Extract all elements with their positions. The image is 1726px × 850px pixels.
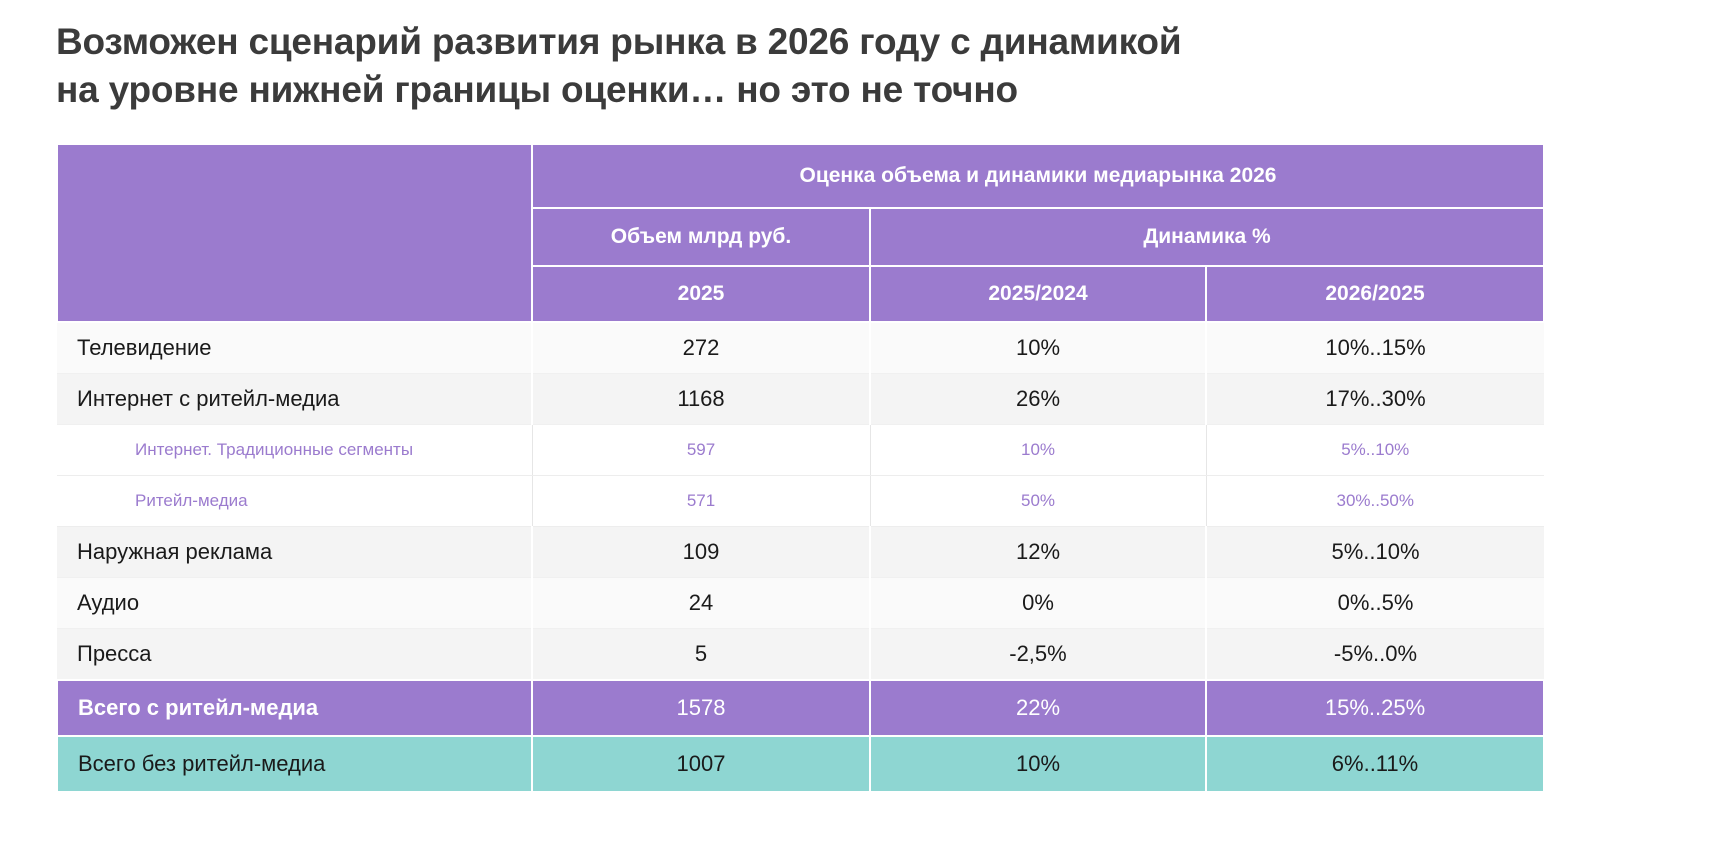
row-volume-2025: 24 bbox=[532, 578, 870, 629]
table-subrow: Интернет. Традиционные сегменты 597 10% … bbox=[57, 425, 1544, 476]
row-label: Интернет с ритейл-медиа bbox=[57, 374, 532, 425]
row-label: Пресса bbox=[57, 629, 532, 681]
row-volume-2025: 5 bbox=[532, 629, 870, 681]
total-dynamics-2025-2024: 10% bbox=[870, 736, 1206, 792]
row-volume-2025: 272 bbox=[532, 322, 870, 374]
page-title-line-1: Возможен сценарий развития рынка в 2026 … bbox=[56, 18, 1556, 66]
slide-root: Возможен сценарий развития рынка в 2026 … bbox=[0, 0, 1726, 850]
header-dynamics: Динамика % bbox=[870, 208, 1544, 266]
total-dynamics-2026-2025: 6%..11% bbox=[1206, 736, 1544, 792]
table-subrow: Ритейл-медиа 571 50% 30%..50% bbox=[57, 476, 1544, 527]
header-group-title: Оценка объема и динамики медиарынка 2026 bbox=[532, 144, 1544, 208]
row-dynamics-2026-2025: -5%..0% bbox=[1206, 629, 1544, 681]
total-label: Всего с ритейл-медиа bbox=[57, 680, 532, 736]
table-header: Оценка объема и динамики медиарынка 2026… bbox=[57, 144, 1544, 322]
media-market-table: Оценка объема и динамики медиарынка 2026… bbox=[56, 143, 1545, 793]
row-dynamics-2025-2024: 12% bbox=[870, 527, 1206, 578]
header-corner-cell bbox=[57, 144, 532, 322]
header-year-2025-2024: 2025/2024 bbox=[870, 266, 1206, 322]
row-label: Наружная реклама bbox=[57, 527, 532, 578]
subrow-dynamics-2026-2025: 5%..10% bbox=[1206, 425, 1544, 476]
total-volume-2025: 1578 bbox=[532, 680, 870, 736]
page-title-line-2: на уровне нижней границы оценки… но это … bbox=[56, 66, 1556, 114]
row-label: Телевидение bbox=[57, 322, 532, 374]
row-dynamics-2026-2025: 5%..10% bbox=[1206, 527, 1544, 578]
total-dynamics-2026-2025: 15%..25% bbox=[1206, 680, 1544, 736]
page-title: Возможен сценарий развития рынка в 2026 … bbox=[56, 18, 1556, 114]
total-label: Всего без ритейл-медиа bbox=[57, 736, 532, 792]
subrow-dynamics-2025-2024: 10% bbox=[870, 425, 1206, 476]
table-row: Телевидение 272 10% 10%..15% bbox=[57, 322, 1544, 374]
row-volume-2025: 1168 bbox=[532, 374, 870, 425]
total-dynamics-2025-2024: 22% bbox=[870, 680, 1206, 736]
header-year-2026-2025: 2026/2025 bbox=[1206, 266, 1544, 322]
subrow-dynamics-2025-2024: 50% bbox=[870, 476, 1206, 527]
row-dynamics-2026-2025: 10%..15% bbox=[1206, 322, 1544, 374]
subrow-label: Интернет. Традиционные сегменты bbox=[57, 425, 532, 476]
table-row: Наружная реклама 109 12% 5%..10% bbox=[57, 527, 1544, 578]
subrow-volume-2025: 597 bbox=[532, 425, 870, 476]
subrow-dynamics-2026-2025: 30%..50% bbox=[1206, 476, 1544, 527]
row-volume-2025: 109 bbox=[532, 527, 870, 578]
subrow-volume-2025: 571 bbox=[532, 476, 870, 527]
table-row: Интернет с ритейл-медиа 1168 26% 17%..30… bbox=[57, 374, 1544, 425]
row-dynamics-2025-2024: 10% bbox=[870, 322, 1206, 374]
subrow-label: Ритейл-медиа bbox=[57, 476, 532, 527]
table-row: Пресса 5 -2,5% -5%..0% bbox=[57, 629, 1544, 681]
header-volume: Объем млрд руб. bbox=[532, 208, 870, 266]
row-dynamics-2025-2024: 26% bbox=[870, 374, 1206, 425]
row-dynamics-2025-2024: 0% bbox=[870, 578, 1206, 629]
row-dynamics-2025-2024: -2,5% bbox=[870, 629, 1206, 681]
table-body: Телевидение 272 10% 10%..15% Интернет с … bbox=[57, 322, 1544, 792]
row-dynamics-2026-2025: 17%..30% bbox=[1206, 374, 1544, 425]
header-row-group: Оценка объема и динамики медиарынка 2026 bbox=[57, 144, 1544, 208]
row-label: Аудио bbox=[57, 578, 532, 629]
header-year-2025: 2025 bbox=[532, 266, 870, 322]
table-total-row-without-retail: Всего без ритейл-медиа 1007 10% 6%..11% bbox=[57, 736, 1544, 792]
row-dynamics-2026-2025: 0%..5% bbox=[1206, 578, 1544, 629]
table-row: Аудио 24 0% 0%..5% bbox=[57, 578, 1544, 629]
total-volume-2025: 1007 bbox=[532, 736, 870, 792]
table-total-row-with-retail: Всего с ритейл-медиа 1578 22% 15%..25% bbox=[57, 680, 1544, 736]
